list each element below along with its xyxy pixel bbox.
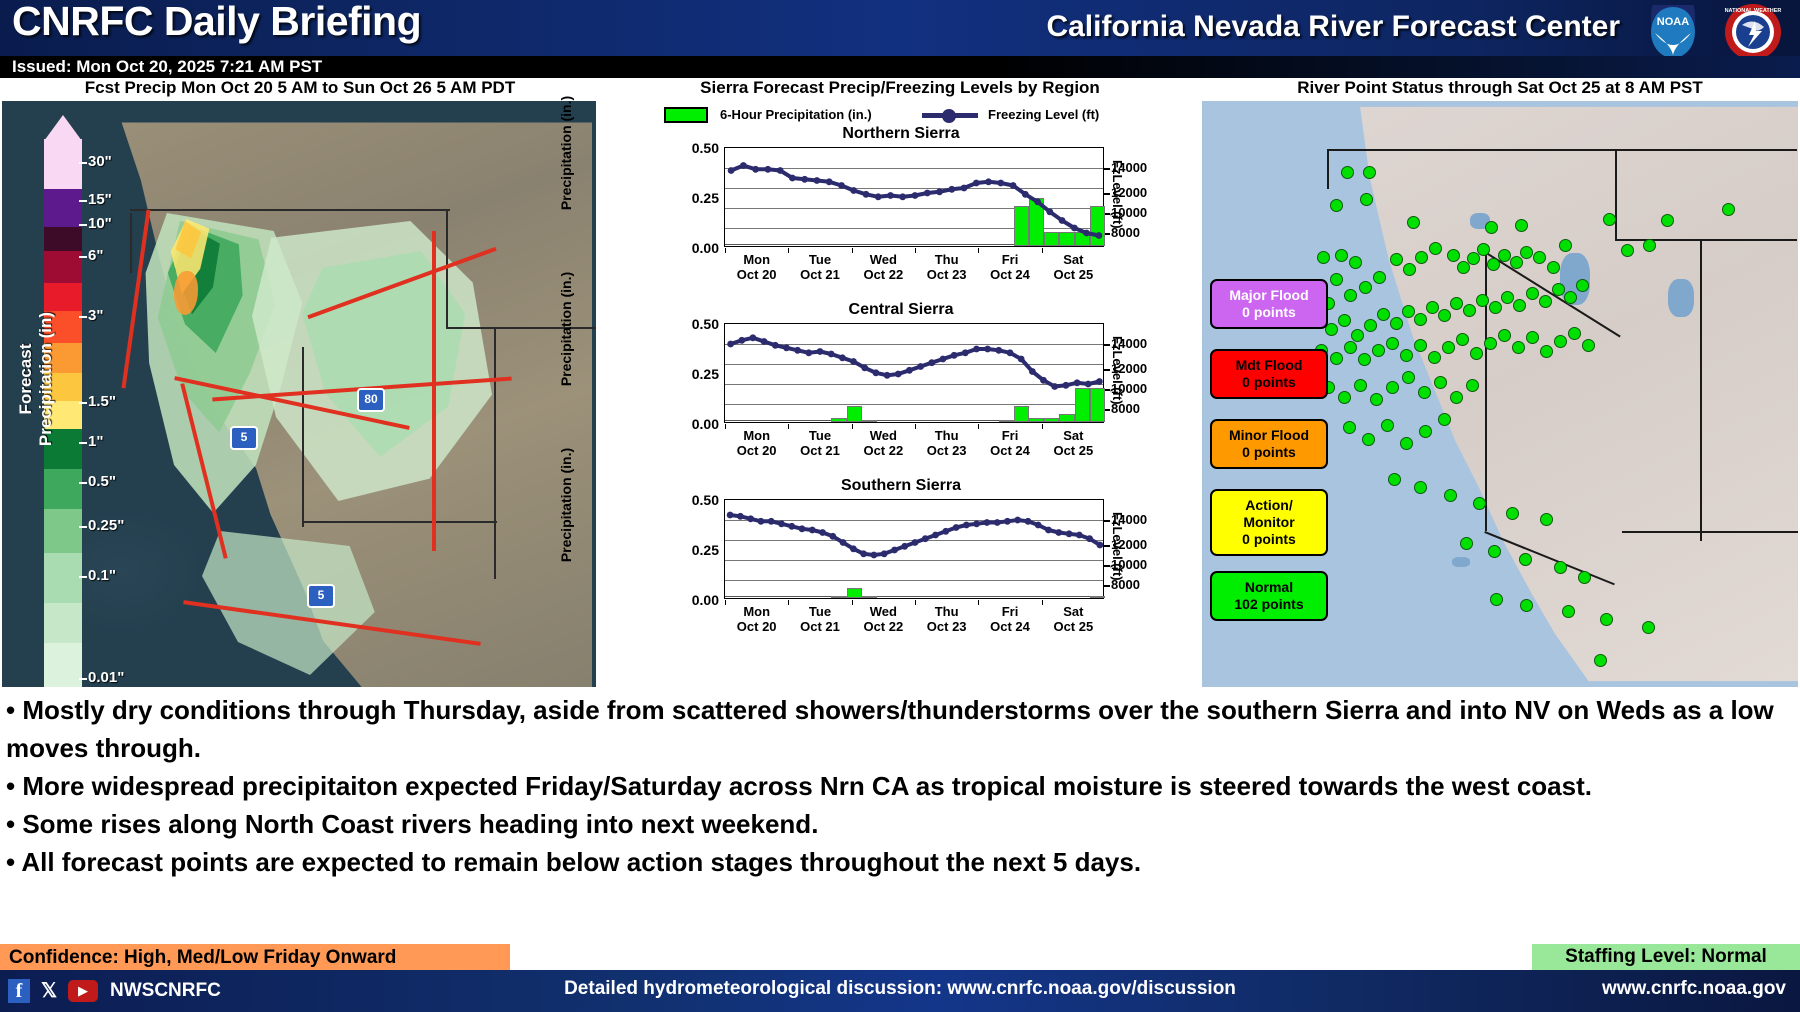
status-points-major: 0 points xyxy=(1242,304,1296,320)
forecast-precipitation-map[interactable]: 80 5 5 10 30" 15" 10" 6" 3" 1.5" 1" xyxy=(2,101,596,687)
x-tick-date: Oct 24 xyxy=(990,267,1030,282)
legend-fzlevel-label: Freezing Level (ft) xyxy=(988,107,1099,122)
x-tick-date: Oct 25 xyxy=(1053,619,1093,634)
nws-logo: NATIONAL WEATHER xyxy=(1722,3,1784,61)
status-badge-action-monitor[interactable]: Action/ Monitor 0 points xyxy=(1210,489,1328,556)
legend-tick-15: 15" xyxy=(88,191,112,208)
x-tick-day: Mon xyxy=(743,604,770,619)
river-border-id-ut xyxy=(1615,239,1797,241)
confidence-banner: Confidence: High, Med/Low Friday Onward xyxy=(0,944,510,970)
x-tick-day: Fri xyxy=(1002,252,1019,267)
status-badge-moderate-flood[interactable]: Mdt Flood 0 points xyxy=(1210,349,1328,399)
ytick-southern-025: 0.25 xyxy=(667,542,719,558)
x-tick-date: Oct 20 xyxy=(737,267,777,282)
river-border-nw xyxy=(1327,149,1329,189)
chart-y2label-central: FzLevel (ft) xyxy=(1110,336,1125,456)
x-tick-day: Fri xyxy=(1002,428,1019,443)
x-tick-date: Oct 21 xyxy=(800,443,840,458)
legend-axis-label: Forecast Precipitation (in) xyxy=(16,299,56,459)
highway-shield-5-north: 5 xyxy=(230,426,258,450)
legend-tick-1p5: 1.5" xyxy=(88,393,116,410)
x-tick-date: Oct 21 xyxy=(800,619,840,634)
x-tick-label: SatOct 25 xyxy=(1035,252,1111,282)
state-border-nv-ca-east xyxy=(302,347,304,527)
x-tick-day: Tue xyxy=(809,428,831,443)
x-tick-date: Oct 23 xyxy=(927,267,967,282)
x-tick-day: Thu xyxy=(935,428,959,443)
bullet-3: • Some rises along North Coast rivers he… xyxy=(6,805,1794,843)
lake-socal xyxy=(1452,557,1470,567)
x-tick-date: Oct 22 xyxy=(863,267,903,282)
x-tick-day: Wed xyxy=(870,252,897,267)
noaa-logo: NOAA xyxy=(1641,5,1705,59)
status-points-minor: 0 points xyxy=(1242,444,1296,460)
x-tick-day: Mon xyxy=(743,252,770,267)
chart-southern-sierra: Southern Sierra Precipitation (in.) 0.50… xyxy=(604,477,1198,647)
ytick-central-025: 0.25 xyxy=(667,366,719,382)
legend-tick-6: 6" xyxy=(88,247,103,264)
river-panel-title: River Point Status through Sat Oct 25 at… xyxy=(1200,79,1800,97)
legend-tick-10: 10" xyxy=(88,215,112,232)
state-border-south xyxy=(302,521,497,523)
state-border-north xyxy=(130,209,450,211)
x-tick-date: Oct 24 xyxy=(990,443,1030,458)
sierra-charts-panel: 6-Hour Precipitation (in.) Freezing Leve… xyxy=(604,101,1198,687)
x-tick-date: Oct 20 xyxy=(737,443,777,458)
x-tick-label: SatOct 25 xyxy=(1035,604,1111,634)
ytick-central-050: 0.50 xyxy=(667,316,719,332)
status-label-action-2: Monitor xyxy=(1243,514,1294,530)
river-border-nv-az xyxy=(1700,241,1702,541)
chart-ylabel-southern: Precipitation (in.) xyxy=(558,435,574,575)
x-tick-date: Oct 20 xyxy=(737,619,777,634)
status-label-normal: Normal xyxy=(1245,579,1293,595)
state-border-west xyxy=(130,213,132,273)
x-tick-day: Sat xyxy=(1063,252,1083,267)
river-border-ca-nv xyxy=(1485,251,1487,531)
svg-text:NATIONAL WEATHER: NATIONAL WEATHER xyxy=(1725,8,1782,14)
ytick-southern-000: 0.00 xyxy=(667,592,719,608)
x-tick-day: Tue xyxy=(809,252,831,267)
legend-tick-0p5: 0.5" xyxy=(88,473,116,490)
x-tick-date: Oct 22 xyxy=(863,619,903,634)
legend-tick-3: 3" xyxy=(88,307,103,324)
sierra-panel-title: Sierra Forecast Precip/Freezing Levels b… xyxy=(600,79,1200,97)
status-label-major: Major Flood xyxy=(1229,287,1308,303)
x-tick-date: Oct 25 xyxy=(1053,267,1093,282)
legend-tick-0p1: 0.1" xyxy=(88,567,116,584)
ytick-southern-050: 0.50 xyxy=(667,492,719,508)
highway-shield-80: 80 xyxy=(357,388,385,412)
plot-area-northern: 0.50 0.25 0.00 14000 12000 10000 8000 Fz… xyxy=(724,147,1104,247)
state-border-az xyxy=(494,329,496,579)
lake-great-salt xyxy=(1668,279,1694,317)
chart-y2label-northern: FzLevel (ft) xyxy=(1110,160,1125,280)
legend-precip-label: 6-Hour Precipitation (in.) xyxy=(720,107,872,122)
river-point-status-map[interactable]: Major Flood 0 points Mdt Flood 0 points … xyxy=(1202,101,1798,687)
status-points-normal: 102 points xyxy=(1234,596,1303,612)
organization-title: California Nevada River Forecast Center xyxy=(1046,10,1620,44)
chart-ylabel-northern: Precipitation (in.) xyxy=(558,83,574,223)
highway-shield-5-south: 5 xyxy=(307,584,335,608)
x-tick-date: Oct 23 xyxy=(927,619,967,634)
river-border-or-id xyxy=(1615,149,1617,241)
x-tick-day: Sat xyxy=(1063,428,1083,443)
ytick-northern-000: 0.00 xyxy=(667,240,719,256)
fzlevel-line-southern xyxy=(725,500,1105,600)
status-points-action: 0 points xyxy=(1242,531,1296,547)
status-badge-minor-flood[interactable]: Minor Flood 0 points xyxy=(1210,419,1328,469)
x-tick-day: Fri xyxy=(1002,604,1019,619)
bullet-4: • All forecast points are expected to re… xyxy=(6,843,1794,881)
svg-text:NOAA: NOAA xyxy=(1657,16,1689,28)
x-tick-day: Thu xyxy=(935,252,959,267)
x-tick-day: Wed xyxy=(870,604,897,619)
x-tick-day: Wed xyxy=(870,428,897,443)
legend-tick-0p25: 0.25" xyxy=(88,517,124,534)
river-border-north xyxy=(1327,149,1797,151)
legend-tick-30: 30" xyxy=(88,153,112,170)
staffing-banner: Staffing Level: Normal xyxy=(1532,944,1800,970)
chart-ylabel-central: Precipitation (in.) xyxy=(558,259,574,399)
ytick-central-000: 0.00 xyxy=(667,416,719,432)
status-label-minor: Minor Flood xyxy=(1229,427,1309,443)
x-tick-date: Oct 25 xyxy=(1053,443,1093,458)
issued-timestamp: Issued: Mon Oct 20, 2025 7:21 AM PST xyxy=(12,56,322,78)
status-badge-normal[interactable]: Normal 102 points xyxy=(1210,571,1328,621)
river-map-land xyxy=(1322,101,1798,687)
status-label-mdt: Mdt Flood xyxy=(1236,357,1303,373)
fzlevel-line-central xyxy=(725,324,1105,424)
legend-tick-0p01: 0.01" xyxy=(88,669,124,686)
river-border-south xyxy=(1622,531,1798,533)
x-tick-day: Tue xyxy=(809,604,831,619)
fzlevel-line-northern xyxy=(725,148,1105,248)
plot-area-central: 0.50 0.25 0.00 14000 12000 10000 8000 Fz… xyxy=(724,323,1104,423)
chart-northern-sierra: Northern Sierra Precipitation (in.) 0.50… xyxy=(604,125,1198,295)
legend-fzlevel-marker xyxy=(942,109,956,123)
status-points-mdt: 0 points xyxy=(1242,374,1296,390)
highway-i15 xyxy=(432,231,436,551)
x-tick-date: Oct 21 xyxy=(800,267,840,282)
legend-arrow-icon xyxy=(44,115,82,141)
x-tick-day: Thu xyxy=(935,604,959,619)
discussion-link[interactable]: Detailed hydrometeorological discussion:… xyxy=(0,978,1800,1000)
status-label-action-1: Action/ xyxy=(1245,497,1292,513)
x-tick-date: Oct 24 xyxy=(990,619,1030,634)
bullet-2: • More widespread precipitaiton expected… xyxy=(6,767,1794,805)
page-header: CNRFC Daily Briefing California Nevada R… xyxy=(0,0,1800,60)
chart-central-sierra: Central Sierra Precipitation (in.) 0.50 … xyxy=(604,301,1198,471)
website-link[interactable]: www.cnrfc.noaa.gov xyxy=(1602,978,1786,1000)
x-tick-date: Oct 23 xyxy=(927,443,967,458)
x-tick-date: Oct 22 xyxy=(863,443,903,458)
precip-panel-title: Fcst Precip Mon Oct 20 5 AM to Sun Oct 2… xyxy=(0,79,600,97)
bullet-1: • Mostly dry conditions through Thursday… xyxy=(6,691,1794,767)
ytick-northern-025: 0.25 xyxy=(667,190,719,206)
app-title: CNRFC Daily Briefing xyxy=(12,0,421,45)
briefing-bullets: • Mostly dry conditions through Thursday… xyxy=(0,689,1800,944)
plot-area-southern: 0.50 0.25 0.00 14000 12000 10000 8000 Fz… xyxy=(724,499,1104,599)
ytick-northern-050: 0.50 xyxy=(667,140,719,156)
chart-y2label-southern: FzLevel (ft) xyxy=(1110,512,1125,632)
status-badge-major-flood[interactable]: Major Flood 0 points xyxy=(1210,279,1328,329)
legend-precip-swatch xyxy=(664,107,708,123)
x-tick-label: SatOct 25 xyxy=(1035,428,1111,458)
x-tick-day: Mon xyxy=(743,428,770,443)
legend-tick-1: 1" xyxy=(88,433,103,450)
x-tick-day: Sat xyxy=(1063,604,1083,619)
precip-legend: 30" 15" 10" 6" 3" 1.5" 1" 0.5" 0.25" 0.1… xyxy=(8,109,113,679)
